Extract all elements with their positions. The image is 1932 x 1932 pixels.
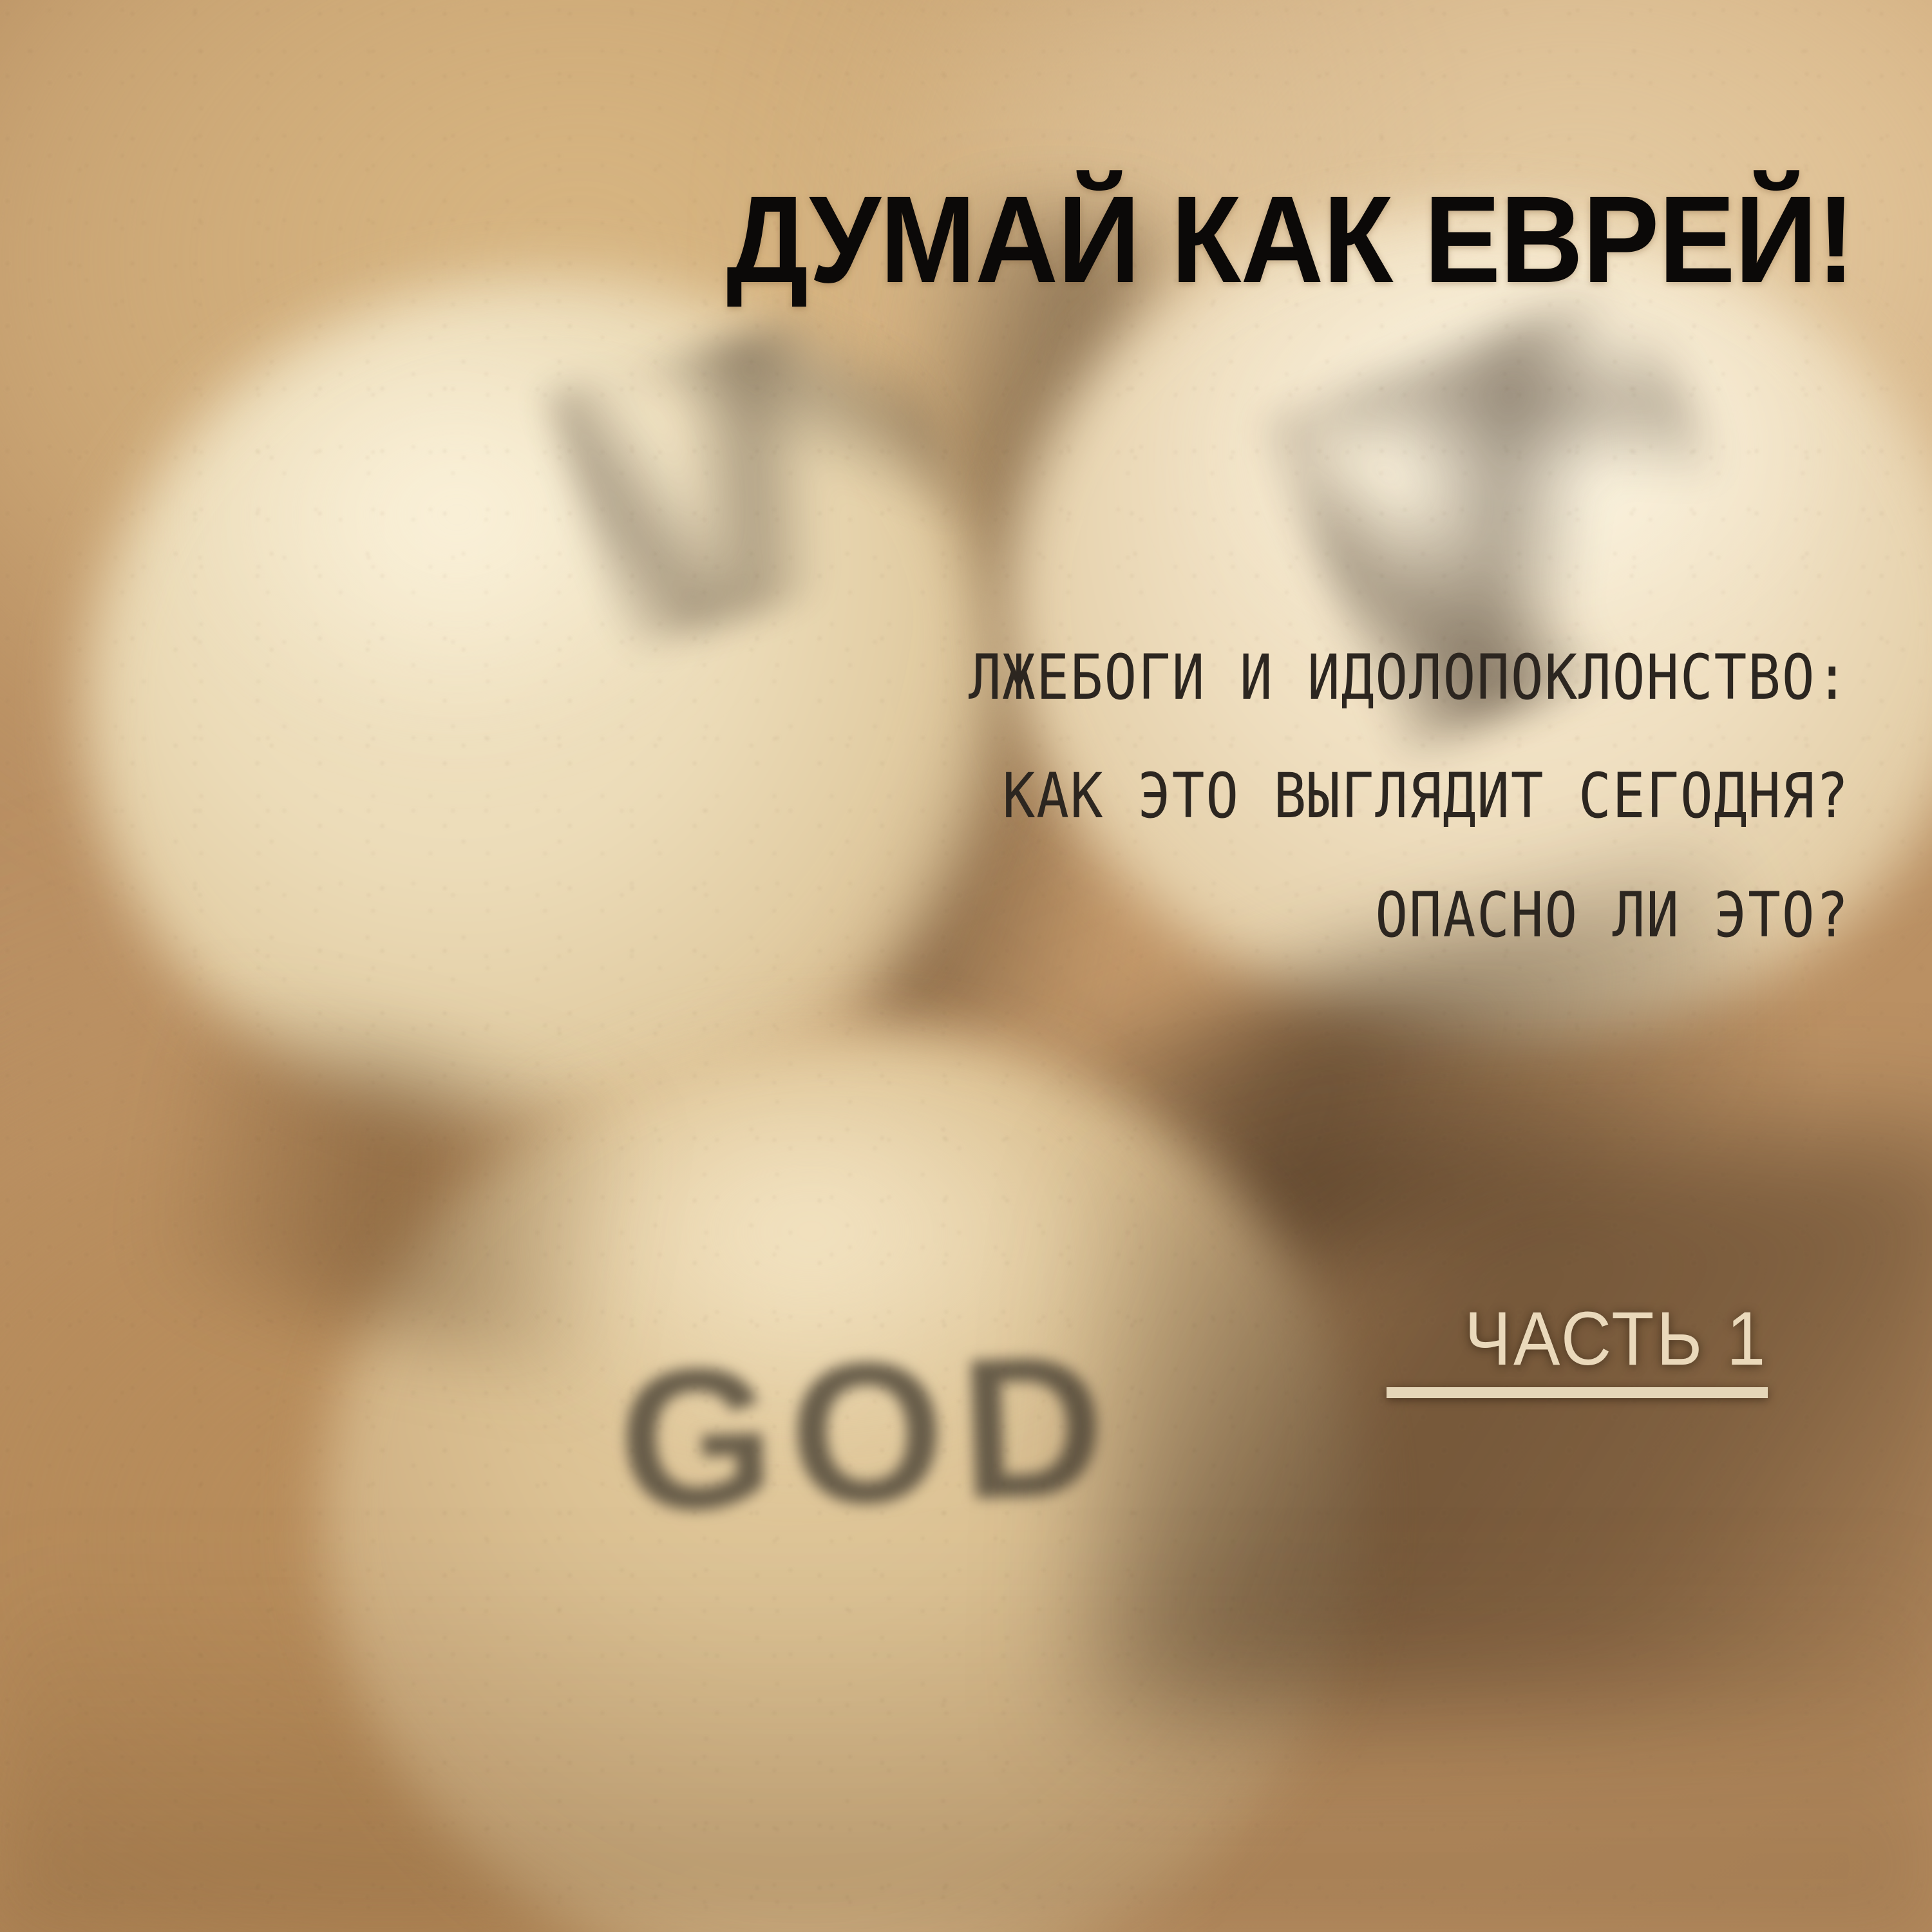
text-layer: ДУМАЙ КАК ЕВРЕЙ! ЛЖЕБОГИ И ИДОЛОПОКЛОНСТ… [0, 0, 1932, 1932]
part-label: ЧАСТЬ 1 [1417, 1301, 1768, 1377]
subtitle-line-2: КАК ЭТО ВЫГЛЯДИТ СЕГОДНЯ? [376, 737, 1850, 855]
poster-canvas: GOD ДУМАЙ КАК ЕВРЕЙ! ЛЖЕБОГИ И ИДОЛОПОКЛ… [0, 0, 1932, 1932]
subtitle-block: ЛЖЕБОГИ И ИДОЛОПОКЛОНСТВО: КАК ЭТО ВЫГЛЯ… [376, 618, 1850, 974]
page-title: ДУМАЙ КАК ЕВРЕЙ! [726, 178, 1855, 301]
part-badge: ЧАСТЬ 1 [1387, 1301, 1768, 1398]
subtitle-line-3: ОПАСНО ЛИ ЭТО? [376, 856, 1850, 974]
part-underline-rule [1387, 1387, 1768, 1398]
subtitle-line-1: ЛЖЕБОГИ И ИДОЛОПОКЛОНСТВО: [376, 618, 1850, 737]
